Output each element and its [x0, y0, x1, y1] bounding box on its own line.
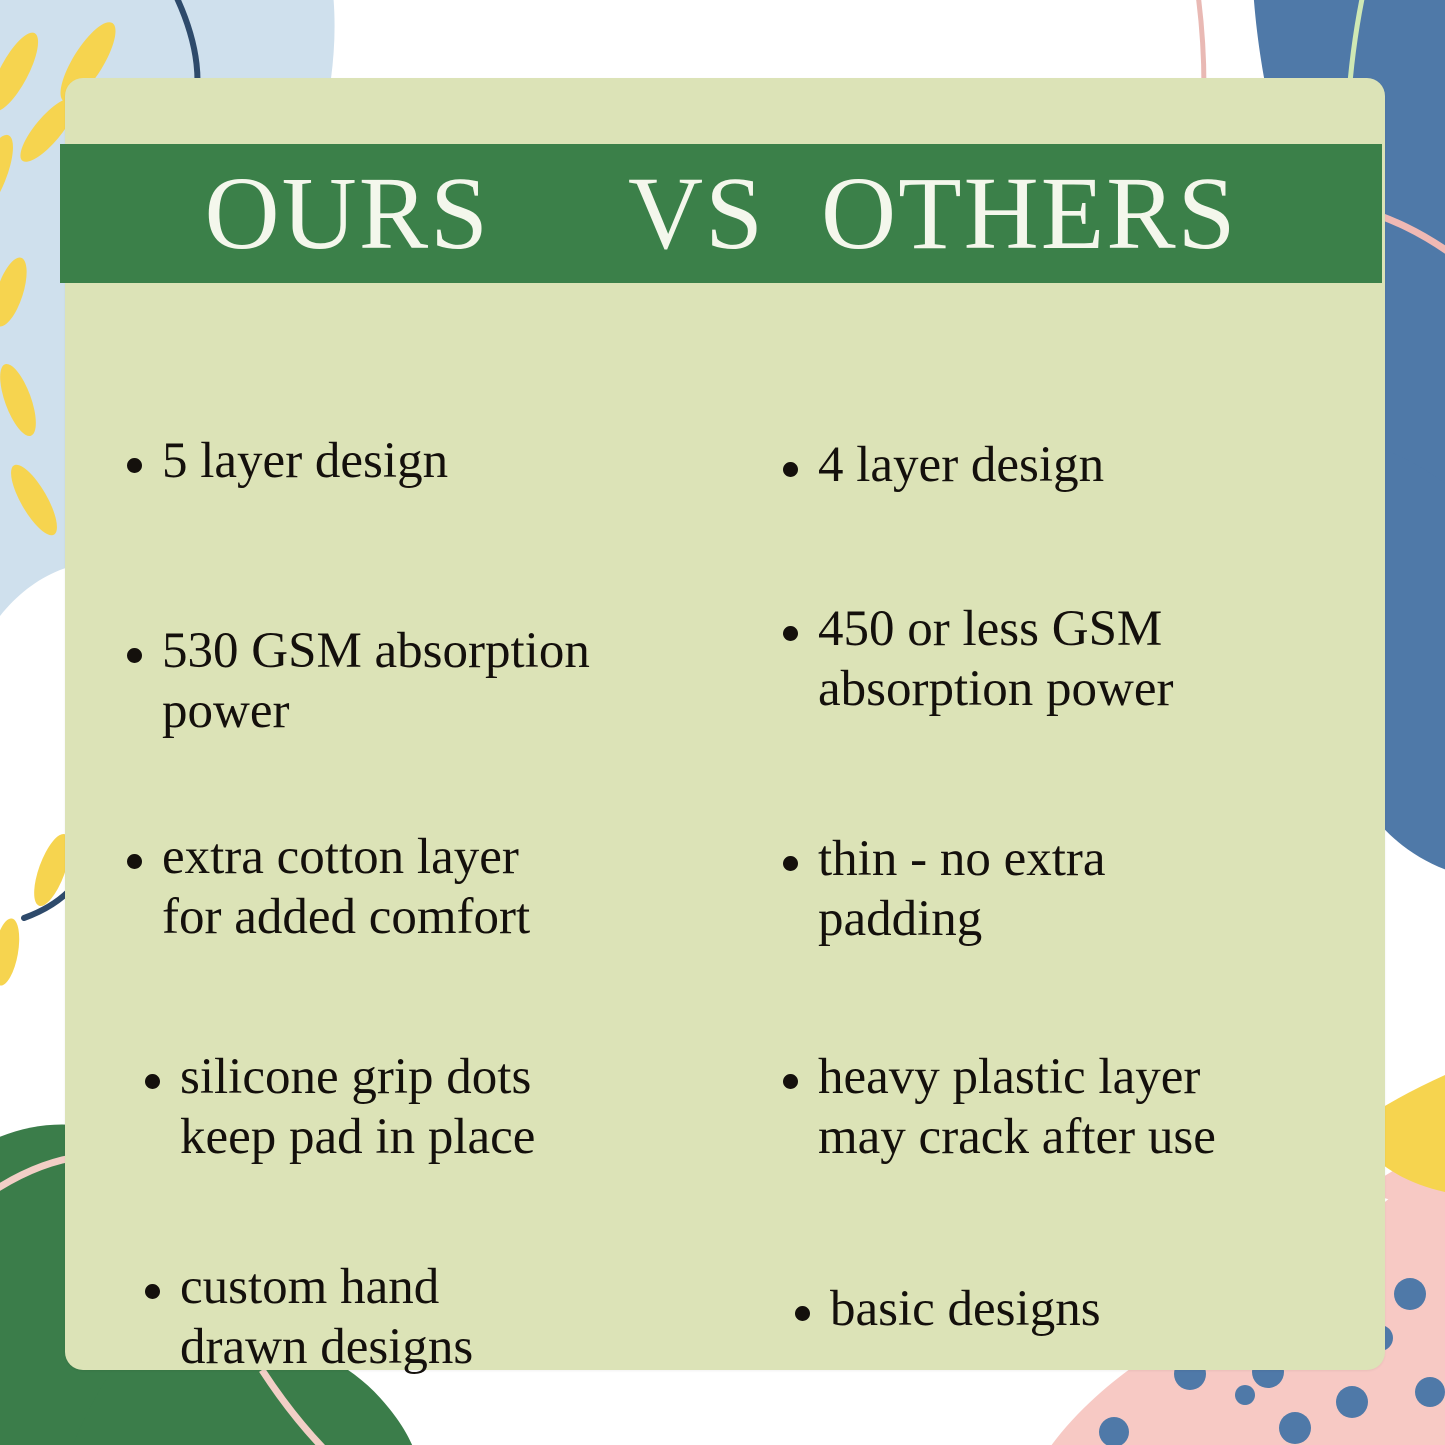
list-item-label: thin - no extra padding: [818, 830, 1106, 949]
bullet-dot-icon: [127, 648, 142, 663]
list-item: thin - no extra padding: [783, 830, 1106, 949]
bullet-dot-icon: [127, 458, 142, 473]
bullet-dot-icon: [783, 462, 798, 477]
others-column: 4 layer design 450 or less GSM absorptio…: [725, 300, 1385, 1370]
list-item-label: 450 or less GSM absorption power: [818, 600, 1174, 719]
list-item-label: heavy plastic layer may crack after use: [818, 1048, 1216, 1167]
list-item: 530 GSM absorption power: [127, 622, 590, 741]
bullet-dot-icon: [783, 1074, 798, 1089]
bullet-dot-icon: [783, 626, 798, 641]
header-band: OURS VS OTHERS: [60, 144, 1382, 283]
list-item: 4 layer design: [783, 436, 1104, 496]
bullet-dot-icon: [127, 854, 142, 869]
comparison-card: OURS VS OTHERS 5 layer design 530 GSM ab…: [65, 78, 1385, 1370]
bullet-dot-icon: [145, 1284, 160, 1299]
list-item: extra cotton layer for added comfort: [127, 828, 530, 947]
list-item: custom hand drawn designs: [145, 1258, 473, 1377]
ours-column: 5 layer design 530 GSM absorption power …: [65, 300, 725, 1370]
list-item-label: 5 layer design: [162, 432, 448, 492]
page-title: OURS VS OTHERS: [205, 162, 1238, 266]
list-item-label: custom hand drawn designs: [180, 1258, 473, 1377]
list-item: silicone grip dots keep pad in place: [145, 1048, 535, 1167]
bullet-dot-icon: [795, 1306, 810, 1321]
list-item: 5 layer design: [127, 432, 448, 492]
list-item-label: basic designs: [830, 1280, 1101, 1340]
list-item-label: silicone grip dots keep pad in place: [180, 1048, 535, 1167]
bullet-dot-icon: [783, 856, 798, 871]
list-item: 450 or less GSM absorption power: [783, 600, 1174, 719]
bullet-dot-icon: [145, 1074, 160, 1089]
list-item: basic designs: [795, 1280, 1101, 1340]
comparison-columns: 5 layer design 530 GSM absorption power …: [65, 300, 1385, 1370]
list-item-label: 530 GSM absorption power: [162, 622, 590, 741]
comparison-graphic: OURS VS OTHERS 5 layer design 530 GSM ab…: [0, 0, 1445, 1445]
list-item-label: 4 layer design: [818, 436, 1104, 496]
list-item: heavy plastic layer may crack after use: [783, 1048, 1216, 1167]
list-item-label: extra cotton layer for added comfort: [162, 828, 530, 947]
